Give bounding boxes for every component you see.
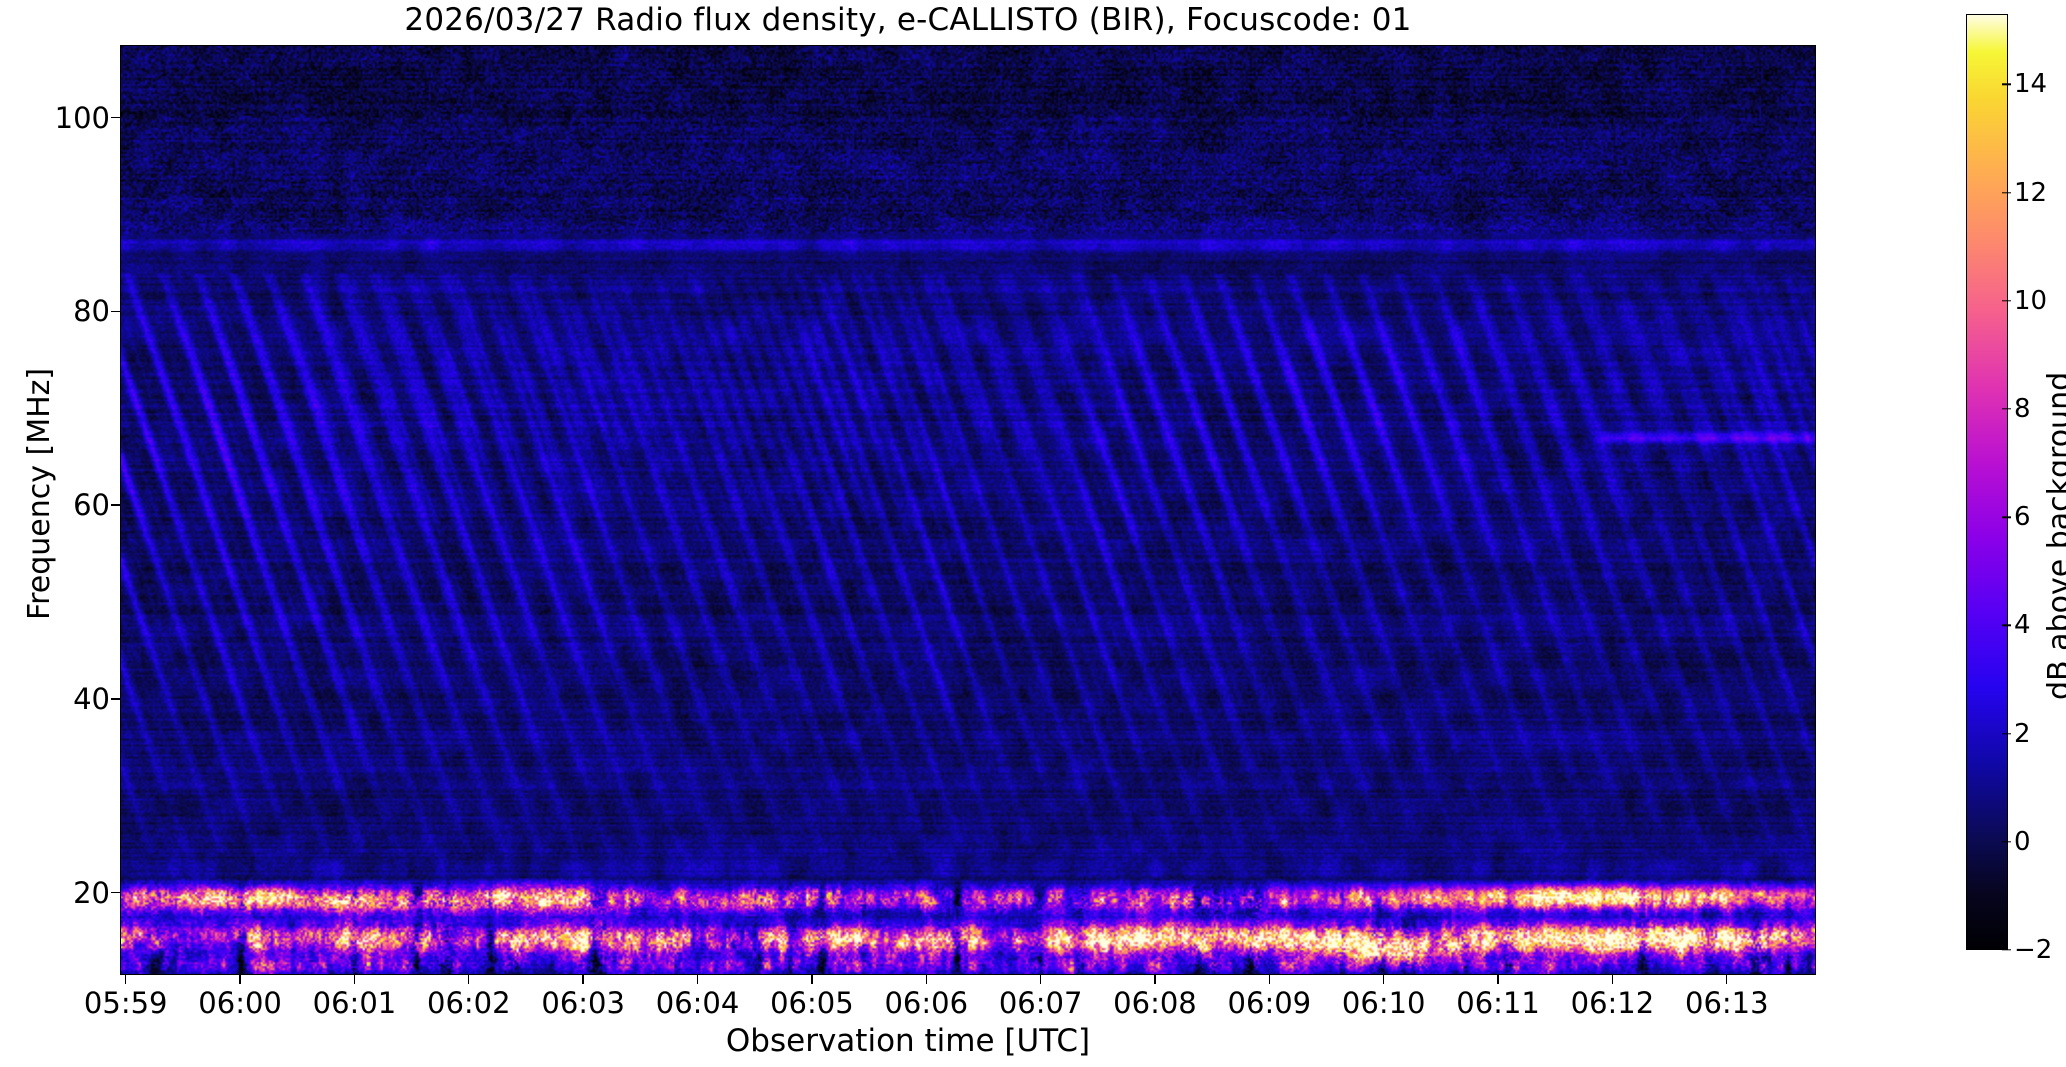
xtick-label-06-01: 06:01 xyxy=(313,986,397,1020)
xtick-label-06-08: 06:08 xyxy=(1113,986,1197,1020)
colorbar-tick-label-1: 0 xyxy=(2014,827,2031,857)
xtick-label-06-07: 06:07 xyxy=(999,986,1083,1020)
ytick-mark-60 xyxy=(111,504,120,505)
xtick-mark-06-05 xyxy=(811,975,812,984)
xtick-label-06-03: 06:03 xyxy=(541,986,625,1020)
colorbar-tick-mark-2 xyxy=(2002,733,2011,734)
x-axis-label: Observation time [UTC] xyxy=(0,1023,1816,1059)
xtick-mark-06-06 xyxy=(926,975,927,984)
xtick-mark-06-12 xyxy=(1612,975,1613,984)
xtick-mark-06-01 xyxy=(354,975,355,984)
xtick-label-06-06: 06:06 xyxy=(884,986,968,1020)
colorbar-tick-label-6: 10 xyxy=(2014,286,2047,316)
xtick-label-06-11: 06:11 xyxy=(1456,986,1540,1020)
ytick-mark-80 xyxy=(111,311,120,312)
colorbar-tick-label-5: 8 xyxy=(2014,394,2031,424)
xtick-label-06-05: 06:05 xyxy=(770,986,854,1020)
colorbar-tick-mark-7 xyxy=(2002,192,2011,193)
colorbar-tick-label-8: 14 xyxy=(2014,69,2047,99)
colorbar-tick-label-7: 12 xyxy=(2014,178,2047,208)
xtick-mark-05-59 xyxy=(125,975,126,984)
colorbar-tick-mark-4 xyxy=(2002,516,2011,517)
ytick-label-20: 20 xyxy=(73,876,110,910)
colorbar-tick-label-4: 6 xyxy=(2014,502,2031,532)
ytick-label-80: 80 xyxy=(73,294,110,328)
xtick-label-06-02: 06:02 xyxy=(427,986,511,1020)
colorbar-tick-mark-3 xyxy=(2002,625,2011,626)
xtick-label-06-10: 06:10 xyxy=(1342,986,1426,1020)
xtick-mark-06-13 xyxy=(1726,975,1727,984)
xtick-label-06-04: 06:04 xyxy=(656,986,740,1020)
y-axis-label: Frequency [MHz] xyxy=(22,368,57,620)
xtick-mark-06-02 xyxy=(468,975,469,984)
colorbar-tick-mark-6 xyxy=(2002,300,2011,301)
ytick-label-100: 100 xyxy=(55,101,110,135)
xtick-mark-06-00 xyxy=(239,975,240,984)
colorbar-tick-mark-1 xyxy=(2002,841,2011,842)
xtick-mark-06-07 xyxy=(1040,975,1041,984)
xtick-mark-06-09 xyxy=(1269,975,1270,984)
page-title: 2026/03/27 Radio flux density, e-CALLIST… xyxy=(0,2,1816,38)
xtick-label-05-59: 05:59 xyxy=(84,986,168,1020)
xtick-mark-06-11 xyxy=(1497,975,1498,984)
ytick-mark-40 xyxy=(111,698,120,699)
xtick-label-06-09: 06:09 xyxy=(1228,986,1312,1020)
xtick-label-06-13: 06:13 xyxy=(1685,986,1769,1020)
xtick-mark-06-08 xyxy=(1154,975,1155,984)
ytick-mark-20 xyxy=(111,892,120,893)
ytick-mark-100 xyxy=(111,117,120,118)
spectrogram-axes xyxy=(120,45,1816,975)
xtick-mark-06-04 xyxy=(697,975,698,984)
ytick-label-40: 40 xyxy=(73,682,110,716)
colorbar-tick-label-0: −2 xyxy=(2014,935,2052,965)
colorbar-tick-label-2: 2 xyxy=(2014,719,2031,749)
colorbar-label: dB above background xyxy=(2042,372,2066,700)
xtick-mark-06-10 xyxy=(1383,975,1384,984)
ytick-label-60: 60 xyxy=(73,488,110,522)
colorbar-tick-mark-5 xyxy=(2002,408,2011,409)
spectrogram-image xyxy=(121,46,1815,974)
colorbar-tick-mark-0 xyxy=(2002,949,2011,950)
colorbar-tick-label-3: 4 xyxy=(2014,610,2031,640)
colorbar-tick-mark-8 xyxy=(2002,84,2011,85)
xtick-mark-06-03 xyxy=(582,975,583,984)
xtick-label-06-00: 06:00 xyxy=(198,986,282,1020)
colorbar xyxy=(1966,14,2008,950)
xtick-label-06-12: 06:12 xyxy=(1571,986,1655,1020)
